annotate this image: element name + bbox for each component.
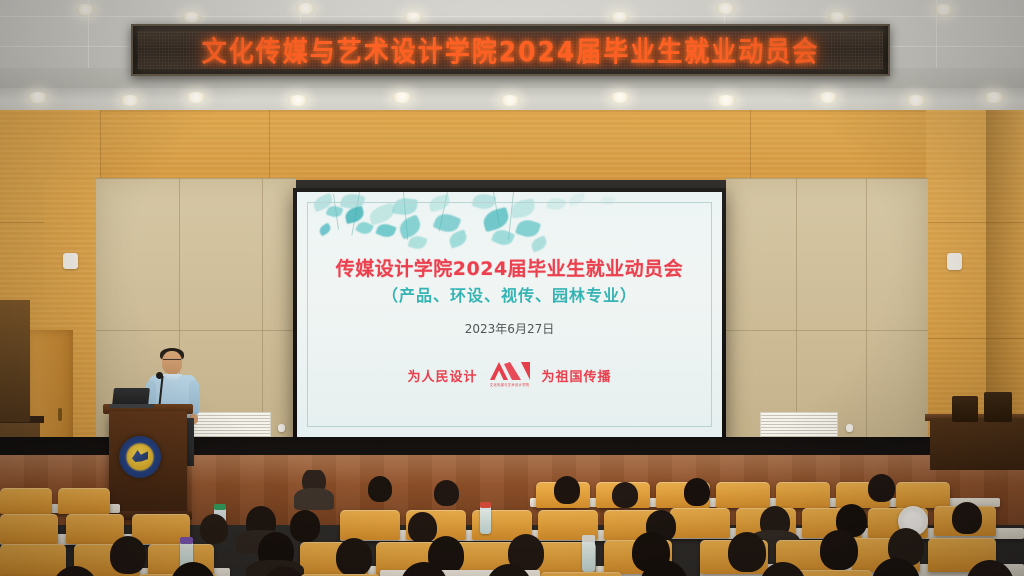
ceiling-downlight <box>76 4 95 15</box>
slide-title: 传媒设计学院2024届毕业生就业动员会 <box>297 254 722 281</box>
slide-inner-border <box>307 202 712 427</box>
audience-head <box>200 514 228 544</box>
ceiling-downlight <box>984 92 1004 103</box>
slide-slogan-row: 为人民设计 文化传媒与艺术设计学院 为祖国传播 <box>297 362 722 388</box>
slide-date: 2023年6月27日 <box>297 320 722 337</box>
ceiling-downlight <box>828 12 847 23</box>
logo-caption: 文化传媒与艺术设计学院 <box>490 382 530 387</box>
ceiling-downlight <box>818 92 838 103</box>
laptop-base <box>110 404 155 408</box>
seat[interactable] <box>540 572 622 576</box>
seat[interactable] <box>896 482 950 508</box>
seat[interactable] <box>716 482 770 508</box>
audience-head <box>110 536 146 574</box>
led-banner-display: 文化传媒与艺术设计学院2024届毕业生就业动员会 <box>131 24 890 76</box>
audience-area <box>0 470 1024 576</box>
audience-head <box>728 532 766 572</box>
presentation-slide: 传媒设计学院2024届毕业生就业动员会 （产品、环设、视传、园林专业） 2023… <box>297 192 722 437</box>
ceiling-downlight <box>934 4 953 15</box>
ceiling-downlight <box>610 92 630 103</box>
microphone-icon <box>156 372 163 379</box>
led-screen: 文化传媒与艺术设计学院2024届毕业生就业动员会 <box>138 31 883 69</box>
audience-head <box>434 480 459 506</box>
lecture-hall-photo: 文化传媒与艺术设计学院2024届毕业生就业动员会 <box>0 0 1024 576</box>
water-bottle[interactable] <box>480 506 491 534</box>
side-chair <box>952 396 978 422</box>
college-logo: 文化传媒与艺术设计学院 <box>488 362 532 388</box>
audience-head <box>868 474 895 502</box>
ceiling-downlight <box>906 95 926 106</box>
seat[interactable] <box>0 514 58 544</box>
ceiling-downlight <box>404 12 423 23</box>
ceiling-downlight <box>120 95 140 106</box>
door-handle-icon <box>58 408 62 421</box>
led-banner-text: 文化传媒与艺术设计学院2024届毕业生就业动员会 <box>202 31 820 69</box>
audience-head <box>820 530 858 570</box>
slogan-left: 为人民设计 <box>407 366 477 385</box>
wall-speaker-box-left <box>63 253 78 269</box>
bottle-cap <box>480 502 491 508</box>
bottle-cap <box>582 535 595 542</box>
ceiling-downlight <box>392 92 412 103</box>
audience-head <box>368 476 392 502</box>
audience-head <box>554 476 580 504</box>
side-cabinet-left-back <box>0 300 30 422</box>
audience-head <box>612 482 638 508</box>
side-chair <box>984 392 1012 422</box>
seat[interactable] <box>66 514 124 544</box>
seat[interactable] <box>0 488 52 514</box>
slide-subtitle: （产品、环设、视传、园林专业） <box>297 282 722 306</box>
audience-head <box>684 478 710 506</box>
seat[interactable] <box>0 544 66 576</box>
audience-head <box>290 510 320 542</box>
seat[interactable] <box>776 482 830 508</box>
ceiling-downlight <box>500 95 520 106</box>
ceiling-downlight <box>296 3 315 14</box>
water-bottle[interactable] <box>582 540 595 572</box>
ceiling-downlight <box>610 12 629 23</box>
ceiling-downlight <box>716 95 736 106</box>
ceiling-downlight <box>182 12 201 23</box>
wall-speaker-box-right <box>947 253 962 270</box>
side-table <box>930 418 1024 470</box>
ceiling-downlight <box>288 95 308 106</box>
bottle-cap <box>180 537 193 544</box>
logo-mark-icon <box>490 362 530 381</box>
speaker-glasses-icon <box>163 359 181 365</box>
seat[interactable] <box>340 510 400 540</box>
ceiling-downlight <box>28 92 48 103</box>
wall-switch-right[interactable] <box>846 424 853 432</box>
ceiling-downlight <box>716 3 735 14</box>
seat[interactable] <box>58 488 110 514</box>
ceiling-downlight <box>186 92 206 103</box>
wall-wood-upper <box>0 110 1024 180</box>
bottle-cap <box>214 504 226 510</box>
seat[interactable] <box>670 508 730 538</box>
wall-switch-left[interactable] <box>278 424 285 432</box>
slogan-right: 为祖国传播 <box>542 366 612 385</box>
audience-head <box>336 538 372 576</box>
audience-shoulders <box>294 488 334 510</box>
audience-head <box>952 502 982 534</box>
audience-head <box>408 512 437 543</box>
